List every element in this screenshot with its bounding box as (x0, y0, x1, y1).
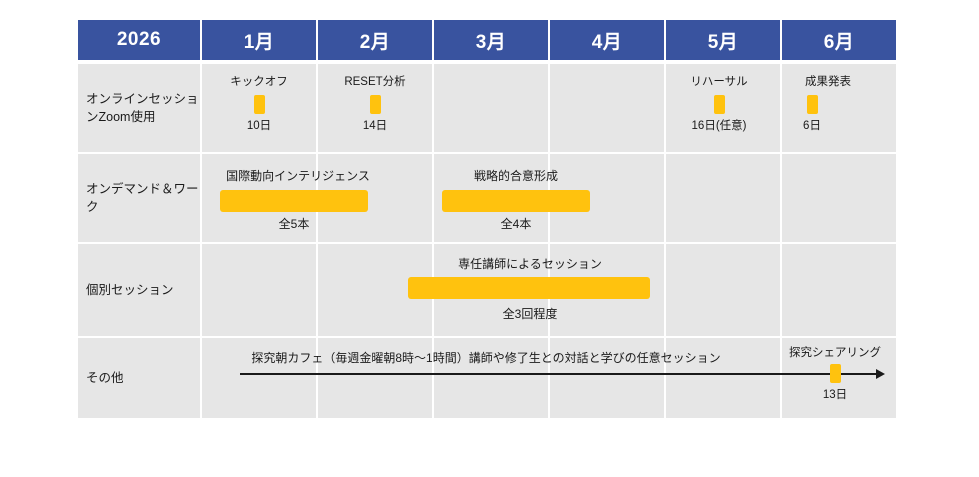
cell-r3-m1 (202, 244, 316, 336)
bar-sub-dedicated-instructor-session: 全3回程度 (503, 307, 558, 321)
row-label-online-session: オンラインセッションZoom使用 (78, 64, 200, 152)
milestone-date-rehearsal: 16日(任意) (692, 120, 747, 134)
header-cell-month-3: 3月 (434, 20, 548, 60)
cell-r1-m3 (434, 64, 548, 152)
bar-title-strategic-consensus: 戦略的合意形成 (474, 169, 558, 183)
cell-r4-m1 (202, 338, 316, 418)
milestone-date-reset-analysis: 14日 (363, 120, 387, 134)
cell-r3-m5 (666, 244, 780, 336)
schedule-gantt-chart: 2026 1月 2月 3月 4月 5月 6月 オンラインセッションZoom使用 … (78, 20, 908, 418)
bar-title-global-trends: 国際動向インテリジェンス (226, 169, 370, 183)
milestone-bar-rehearsal (714, 95, 725, 114)
cell-r4-m4 (550, 338, 664, 418)
row-label-others: その他 (78, 338, 200, 418)
header-cell-month-1: 1月 (202, 20, 316, 60)
arrow-line-morning-cafe (240, 373, 881, 375)
bar-global-trends (220, 190, 368, 212)
milestone-title-inquiry-sharing: 探究シェアリング (789, 347, 881, 361)
milestone-title-outcome-presentation: 成果発表 (805, 76, 851, 90)
milestone-bar-reset-analysis (370, 95, 381, 114)
milestone-bar-kickoff (254, 95, 265, 114)
row-label-individual-session: 個別セッション (78, 244, 200, 336)
cell-r3-m6 (782, 244, 896, 336)
milestone-bar-outcome-presentation (807, 95, 818, 114)
milestone-date-kickoff: 10日 (247, 120, 271, 134)
arrow-head-icon (876, 369, 885, 379)
cell-r4-m3 (434, 338, 548, 418)
milestone-title-kickoff: キックオフ (230, 76, 288, 90)
bar-strategic-consensus (442, 190, 590, 212)
arrow-title-morning-cafe: 探究朝カフェ（毎週金曜朝8時～1時間）講師や修了生との対話と学びの任意セッション (251, 351, 720, 365)
bar-title-dedicated-instructor-session: 専任講師によるセッション (458, 257, 602, 271)
header-cell-month-4: 4月 (550, 20, 664, 60)
milestone-title-rehearsal: リハーサル (690, 76, 747, 90)
bar-sub-global-trends: 全5本 (279, 217, 310, 231)
table-row-others: その他 (78, 338, 908, 418)
cell-r2-m6 (782, 154, 896, 242)
milestone-title-reset-analysis: RESET分析 (344, 76, 405, 90)
bar-dedicated-instructor-session (408, 277, 650, 299)
milestone-date-inquiry-sharing: 13日 (823, 389, 847, 403)
cell-r4-m2 (318, 338, 432, 418)
timeline-body: オンラインセッションZoom使用 オンデマンド＆ワーク 個別セッション (78, 64, 908, 418)
timeline-header-row: 2026 1月 2月 3月 4月 5月 6月 (78, 20, 908, 60)
milestone-bar-inquiry-sharing (830, 364, 841, 383)
milestone-date-outcome-presentation: 6日 (803, 120, 821, 134)
header-cell-month-6: 6月 (782, 20, 896, 60)
row-label-ondemand-work: オンデマンド＆ワーク (78, 154, 200, 242)
table-row-online-session: オンラインセッションZoom使用 (78, 64, 908, 152)
header-cell-month-2: 2月 (318, 20, 432, 60)
cell-r1-m4 (550, 64, 664, 152)
bar-sub-strategic-consensus: 全4本 (501, 217, 532, 231)
cell-r4-m5 (666, 338, 780, 418)
header-cell-year: 2026 (78, 20, 200, 60)
header-cell-month-5: 5月 (666, 20, 780, 60)
cell-r2-m5 (666, 154, 780, 242)
